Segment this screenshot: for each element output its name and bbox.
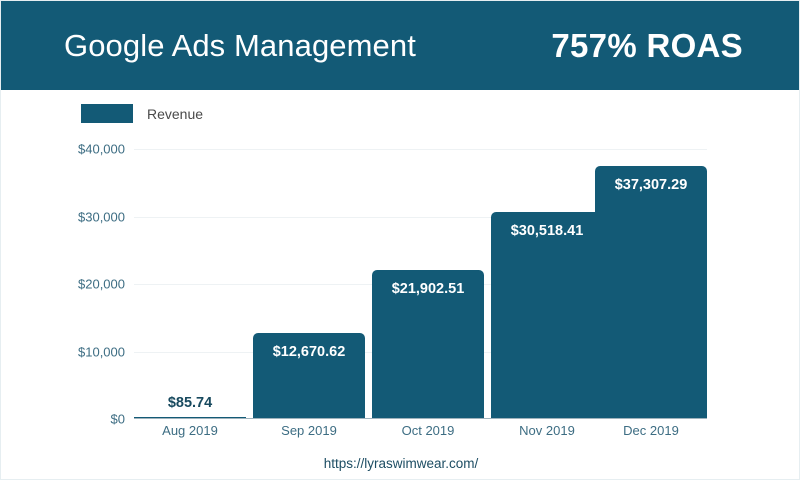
y-axis-tick-label: $40,000 <box>15 142 125 157</box>
legend-swatch-icon <box>81 104 133 123</box>
legend-item-label: Revenue <box>147 106 203 122</box>
x-axis-tick-label: Nov 2019 <box>491 423 603 438</box>
chart-legend: Revenue <box>81 104 203 123</box>
bar-oct-2019[interactable]: $21,902.51 <box>372 270 484 418</box>
bar-nov-2019[interactable]: $30,518.41 <box>491 212 603 418</box>
bar-dec-2019[interactable]: $37,307.29 <box>595 166 707 418</box>
bar-value-label: $21,902.51 <box>372 281 484 297</box>
x-axis-tick-label: Aug 2019 <box>134 423 246 438</box>
chart-page: Google Ads Management 757% ROAS Revenue … <box>0 0 800 480</box>
header-banner: Google Ads Management 757% ROAS <box>1 1 800 90</box>
gridline <box>134 149 707 150</box>
bar-value-label: $85.74 <box>134 395 246 411</box>
source-url[interactable]: https://lyraswimwear.com/ <box>1 456 800 471</box>
bar-value-label: $37,307.29 <box>595 177 707 193</box>
x-axis-tick-label: Dec 2019 <box>595 423 707 438</box>
y-axis-tick-label: $0 <box>15 412 125 427</box>
plot-area: $12,670.62 $21,902.51 $30,518.41 $37,307… <box>134 149 707 419</box>
bar-value-label: $30,518.41 <box>491 223 603 239</box>
y-axis-tick-label: $20,000 <box>15 277 125 292</box>
bar-aug-2019[interactable] <box>134 417 246 418</box>
bar-sep-2019[interactable]: $12,670.62 <box>253 333 365 419</box>
page-title: Google Ads Management <box>64 28 416 64</box>
bar-value-label: $12,670.62 <box>253 344 365 360</box>
x-axis-tick-label: Oct 2019 <box>372 423 484 438</box>
x-axis-tick-label: Sep 2019 <box>253 423 365 438</box>
roas-kpi: 757% ROAS <box>551 27 743 65</box>
y-axis-tick-label: $30,000 <box>15 209 125 224</box>
axis-baseline <box>134 418 707 419</box>
y-axis-tick-label: $10,000 <box>15 344 125 359</box>
